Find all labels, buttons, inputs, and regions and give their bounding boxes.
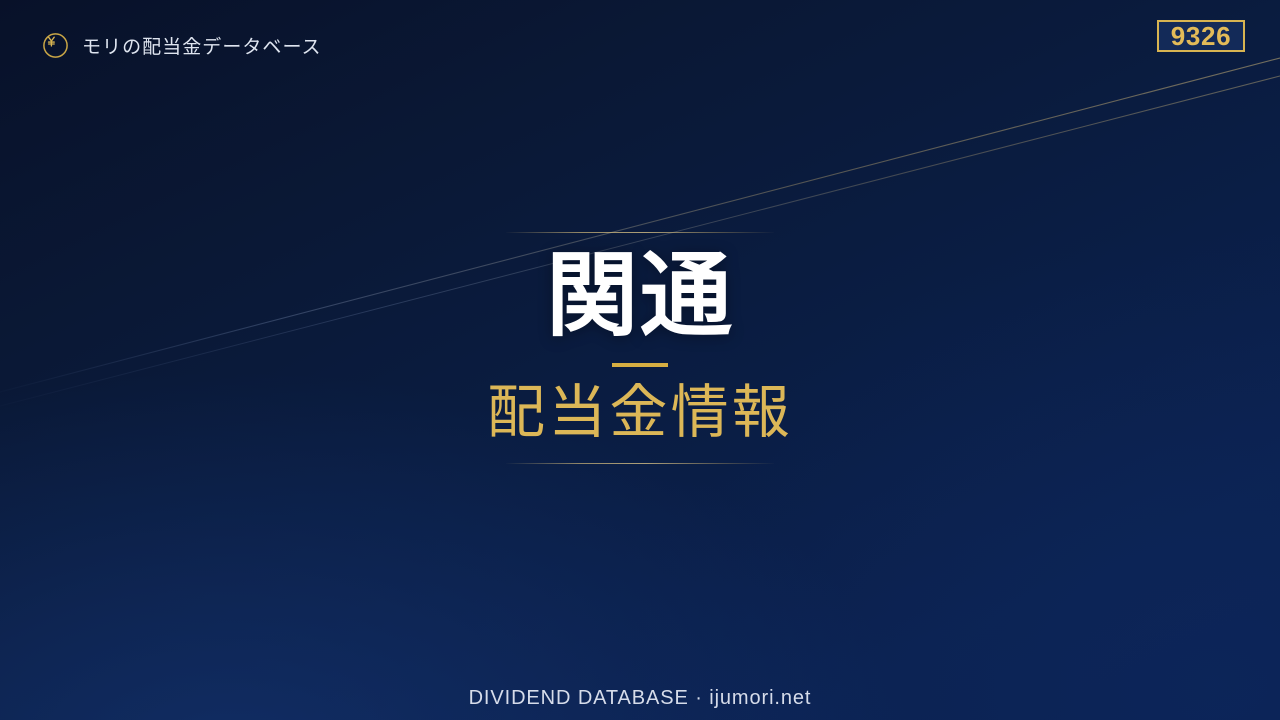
gold-divider [612,363,668,367]
yen-coin-icon [40,30,70,60]
hero-rule-bottom [506,463,774,464]
ticker-code: 9326 [1171,23,1231,49]
ticker-badge: 9326 [1157,20,1245,52]
top-bar: モリの配当金データベース 9326 [0,0,1280,90]
hero-block: 関通 配当金情報 [0,232,1280,464]
brand[interactable]: モリの配当金データベース [40,30,322,60]
company-name: 関通 [546,249,734,345]
hero-subtitle: 配当金情報 [487,381,793,446]
footer-text: DIVIDEND DATABASE · ijumori.net [469,687,812,709]
title-slide: モリの配当金データベース 9326 関通 配当金情報 DIVIDEND DATA… [0,0,1280,720]
hero-rule-top [506,232,774,233]
brand-label: モリの配当金データベース [82,32,322,59]
footer: DIVIDEND DATABASE · ijumori.net [0,687,1280,710]
